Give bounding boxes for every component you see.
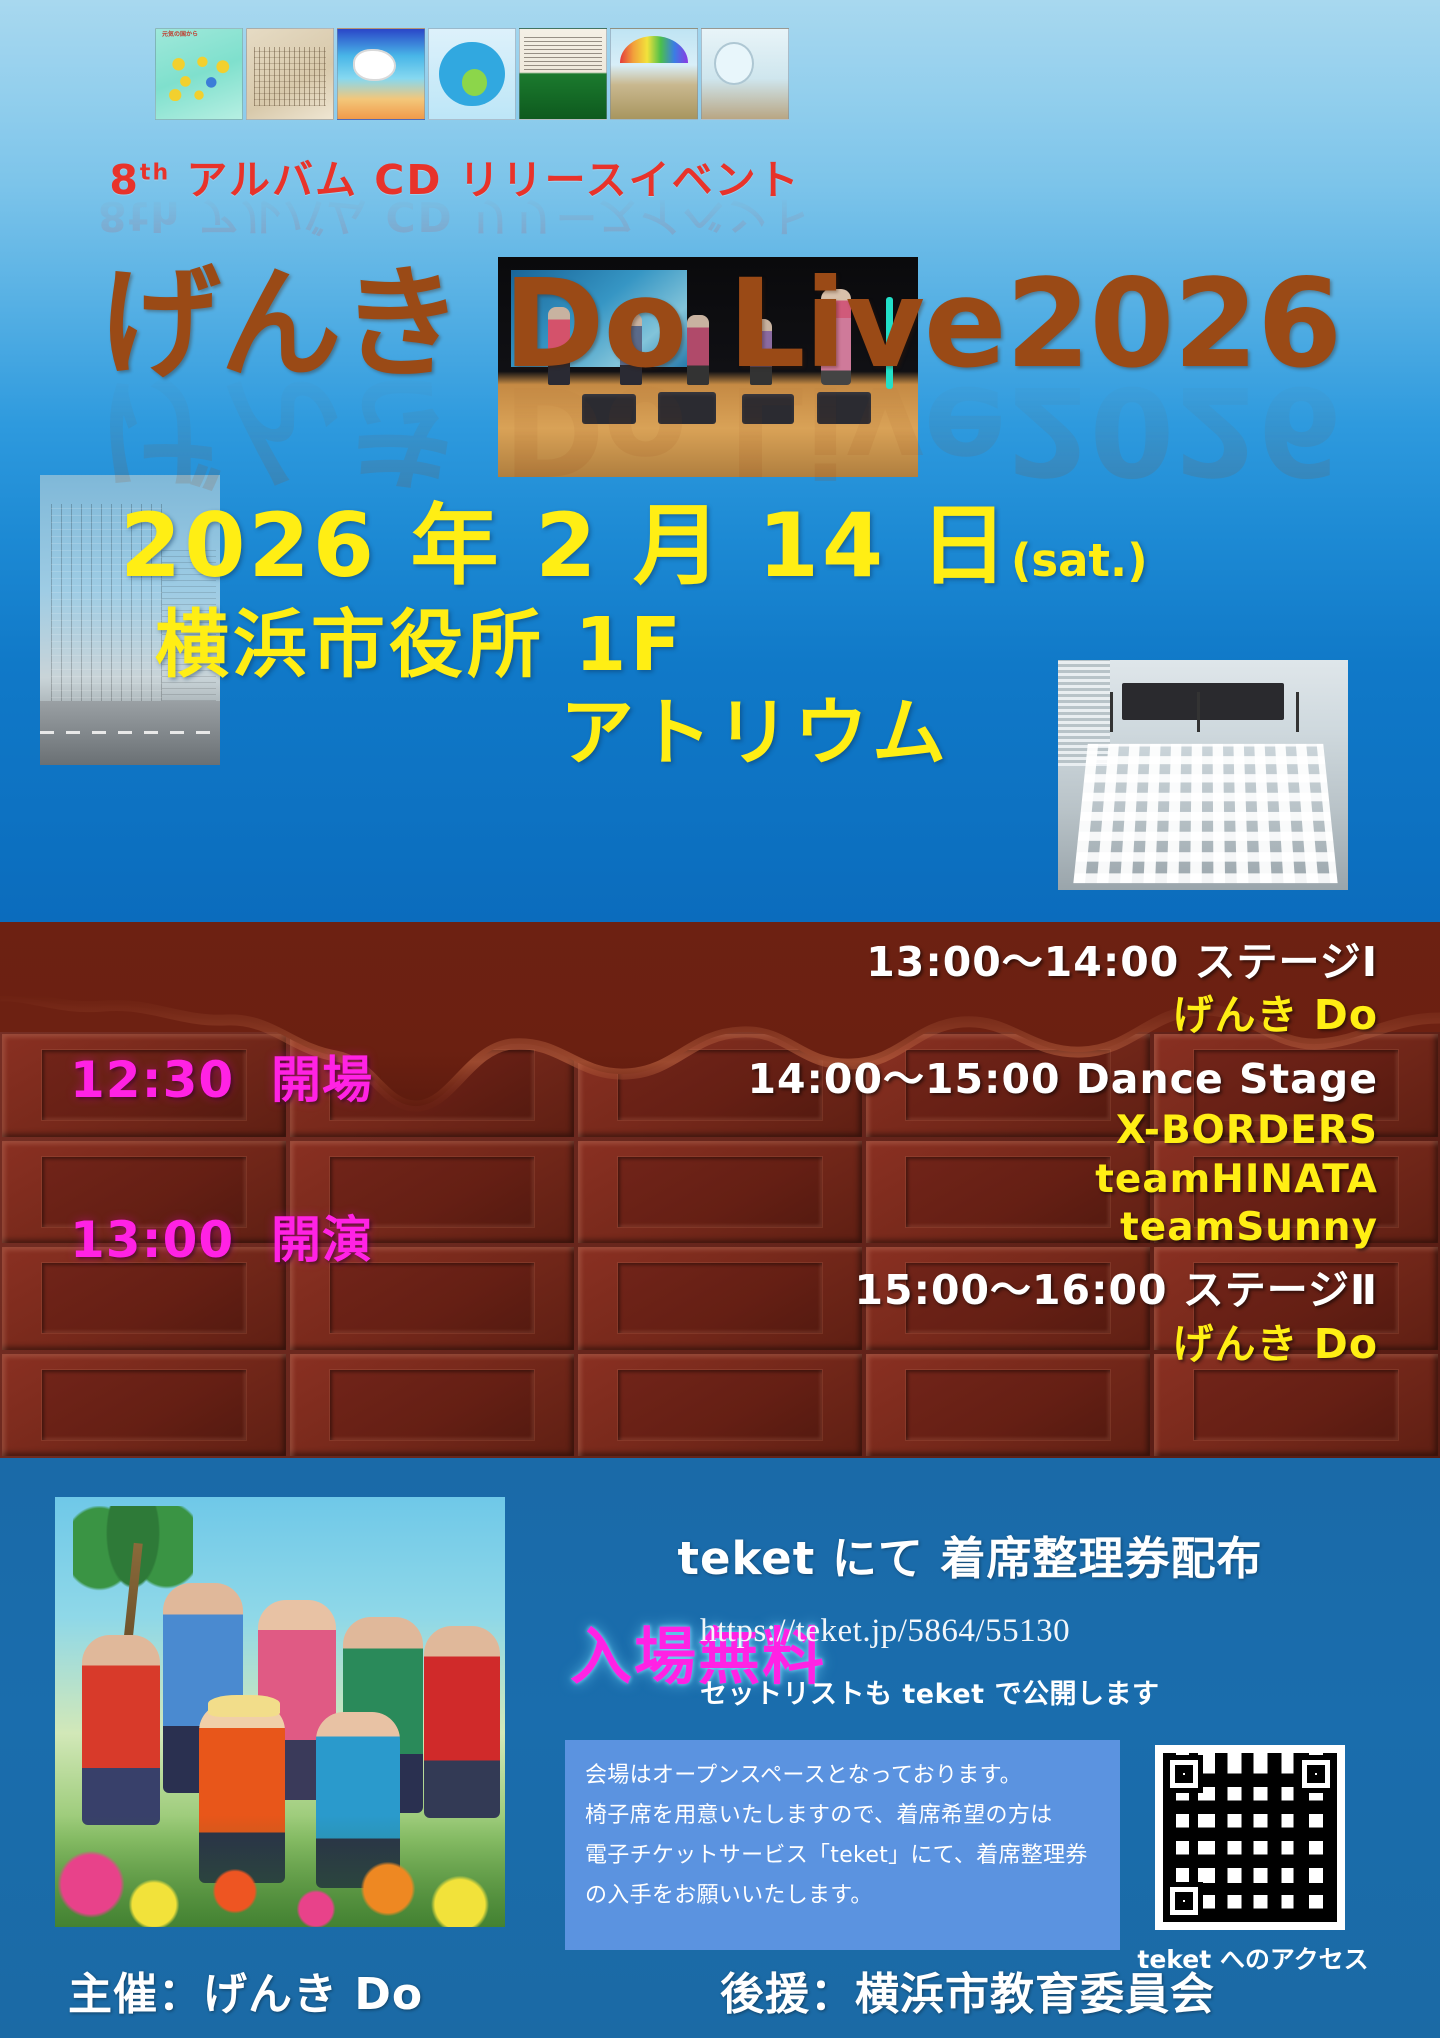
program-slot-2: 14:00〜15:00 Dance Stage X-BORDERS teamHI…: [560, 1052, 1378, 1254]
venue-info-line-3: 電子チケットサービス「teket」にて、着席整理券: [585, 1836, 1100, 1876]
venue-info-line-2: 椅子席を用意いたしますので、着席希望の方は: [585, 1796, 1100, 1836]
poster-title: げんき Do Live2026: [0, 225, 1440, 402]
event-poster: 元気の国から 8th アルバム CD リリースイベント 8th アルバム CD …: [0, 0, 1440, 2038]
program-slot-2-act-1: X-BORDERS: [560, 1107, 1378, 1156]
album-event-number: 8: [109, 156, 140, 204]
date-venue-block: 2026 年 2 月 14 日(sat.) 横浜市役所 1F アトリウム: [120, 500, 1300, 777]
album-cover-7: [701, 28, 789, 120]
program-slot-2-act-3: teamSunny: [560, 1204, 1378, 1253]
setlist-note: セットリストも teket で公開します: [700, 1672, 1400, 1711]
show-start-time: 13:00: [70, 1211, 234, 1269]
event-date: 2026 年 2 月 14 日(sat.): [120, 500, 1300, 592]
venue-line-2: アトリウム: [560, 690, 1300, 777]
album-event-ordinal: th: [140, 160, 170, 185]
program-slot-2-time: 14:00〜15:00 Dance Stage: [560, 1052, 1378, 1107]
program-schedule: 13:00〜14:00 ステージⅠ げんき Do 14:00〜15:00 Dan…: [560, 935, 1430, 1380]
show-start-label: 開演: [271, 1211, 373, 1269]
album-cover-4: [428, 28, 516, 120]
album-cover-1: 元気の国から: [155, 28, 243, 120]
ticket-heading: teket にて 着席整理券配布: [540, 1522, 1400, 1587]
teket-url[interactable]: https://teket.jp/5864/55130: [700, 1613, 1400, 1650]
band-group-photo: [55, 1497, 505, 1927]
qr-finder-bottom-left: [1165, 1882, 1203, 1920]
program-slot-3: 15:00〜16:00 ステージⅡ げんき Do: [560, 1263, 1378, 1370]
album-cover-5: [519, 28, 607, 120]
show-start-row: 13:00 開演: [70, 1200, 510, 1272]
qr-finder-top-right: [1297, 1755, 1335, 1793]
album-cover-strip: 元気の国から: [155, 28, 795, 120]
album-cover-6: [610, 28, 698, 120]
album-event-text: アルバム CD リリースイベント: [170, 156, 800, 204]
event-date-weekday: (sat.): [1011, 534, 1148, 587]
program-slot-3-time: 15:00〜16:00 ステージⅡ: [560, 1263, 1378, 1318]
qr-finder-top-left: [1165, 1755, 1203, 1793]
program-slot-3-act-1: げんき Do: [560, 1319, 1378, 1370]
doors-open-time: 12:30: [70, 1051, 234, 1109]
album-cover-3: [337, 28, 425, 120]
venue-info-line-4: の入手をお願いいたします。: [585, 1876, 1100, 1916]
doors-open-label: 開場: [271, 1051, 373, 1109]
album-cover-2: [246, 28, 334, 120]
program-slot-1-act-1: げんき Do: [560, 990, 1378, 1041]
venue-line-1: 横浜市役所 1F: [155, 602, 1300, 689]
event-date-main: 2026 年 2 月 14 日: [120, 494, 1011, 597]
organizer-credit: 主催：げんき Do: [68, 1958, 423, 2022]
venue-info-line-1: 会場はオープンスペースとなっております。: [585, 1756, 1100, 1796]
qr-code[interactable]: [1155, 1745, 1345, 1930]
program-slot-1-time: 13:00〜14:00 ステージⅠ: [560, 935, 1378, 990]
supporter-credit: 後援：横浜市教育委員会: [720, 1958, 1215, 2022]
program-slot-2-act-2: teamHINATA: [560, 1156, 1378, 1205]
qr-code-pattern: [1163, 1753, 1337, 1922]
venue-info-box: 会場はオープンスペースとなっております。 椅子席を用意いたしますので、着席希望の…: [565, 1740, 1120, 1950]
program-slot-1: 13:00〜14:00 ステージⅠ げんき Do: [560, 935, 1378, 1042]
album-event-header: 8th アルバム CD リリースイベント: [0, 146, 910, 206]
doors-start-times: 12:30 開場 13:00 開演: [70, 1040, 510, 1360]
album-cover-1-label: 元気の国から: [162, 32, 198, 39]
doors-open-row: 12:30 開場: [70, 1040, 510, 1112]
